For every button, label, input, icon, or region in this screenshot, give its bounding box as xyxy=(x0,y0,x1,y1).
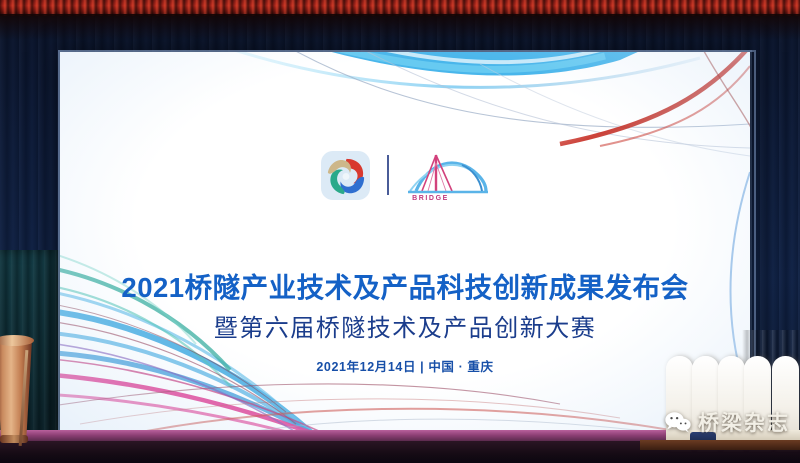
event-date-location: 2021年12月14日 | 中国 · 重庆 xyxy=(60,356,750,375)
logo-row: BRIDGE xyxy=(60,144,750,206)
stage-scene: BRIDGE 2021桥隧产业技术及产品科技创新成果发布会 暨第六届桥隧技术及产… xyxy=(0,0,800,463)
bridge-logo: BRIDGE xyxy=(406,149,490,201)
arch-bridge-logo-icon xyxy=(406,149,490,197)
golden-vase xyxy=(0,332,32,442)
wechat-icon xyxy=(664,410,692,434)
watermark-text: 桥梁杂志 xyxy=(698,407,790,437)
event-subtitle: 暨第六届桥隧技术及产品创新大赛 xyxy=(60,308,750,343)
wood-rail xyxy=(640,440,800,450)
bridge-wordmark: BRIDGE xyxy=(406,195,456,202)
logo-divider xyxy=(387,155,389,195)
vase-foot xyxy=(0,435,28,443)
led-screen: BRIDGE 2021桥隧产业技术及产品科技创新成果发布会 暨第六届桥隧技术及产… xyxy=(60,52,750,430)
watermark: 桥梁杂志 xyxy=(664,405,790,439)
event-title: 2021桥隧产业技术及产品科技创新成果发布会 xyxy=(60,265,750,305)
pinwheel-swirl-logo-icon xyxy=(321,151,370,200)
valance-shadow xyxy=(0,14,800,40)
